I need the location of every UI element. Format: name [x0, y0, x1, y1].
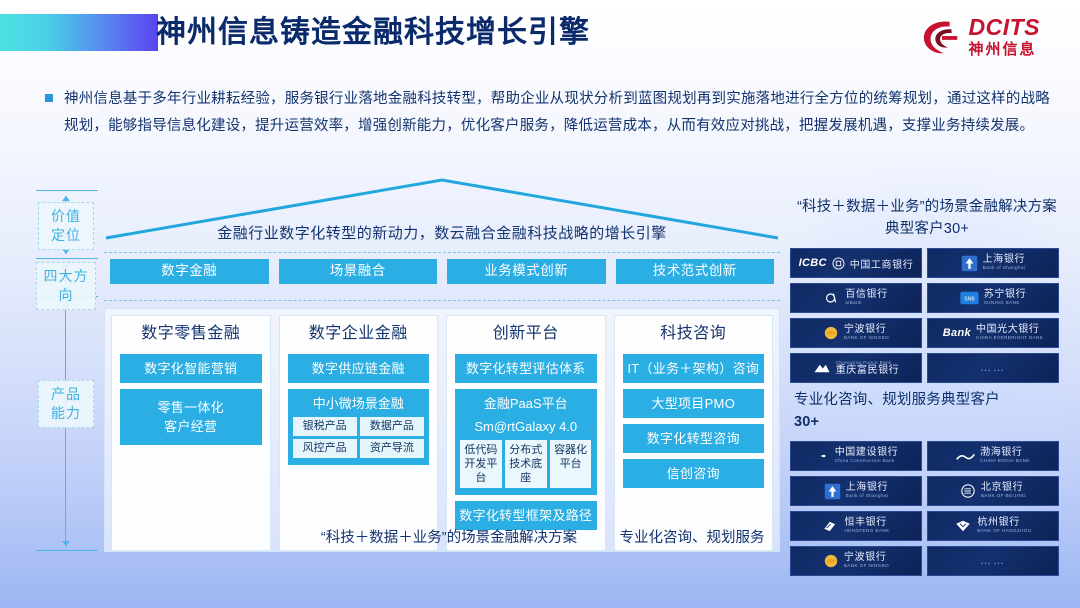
logo-bank-of-beijing[interactable]: 北京银行 BANK OF BEIJING: [927, 476, 1059, 506]
bullet-square-icon: [45, 94, 53, 102]
hengfeng-label-cn: 恒丰银行: [844, 518, 889, 528]
pillar-card-4: 科技咨询 IT（业务＋架构）咨询 大型项目PMO 数字化转型咨询 信创咨询: [614, 315, 774, 551]
bank-of-shanghai-icon: [961, 255, 978, 272]
fumin-label-cn: 重庆富民银行: [836, 366, 900, 376]
logo-everbright-bank[interactable]: Bank 中国光大银行 CHINA EVERBRIGHT BANK: [927, 318, 1059, 348]
title-accent-bar: [0, 14, 158, 51]
paas-title-line1: 金融PaaS平台: [460, 394, 592, 413]
logo-aibank[interactable]: 百信银行 aiBank: [790, 283, 922, 313]
hangzhou-label-cn: 杭州银行: [977, 518, 1031, 528]
sub-chip-bank-tax-product[interactable]: 银税产品: [293, 417, 357, 436]
four-directions-row: 数字金融 场景融合 业务模式创新 技术范式创新: [110, 259, 774, 284]
pillar-digital-enterprise-finance: 数字企业金融 数字供应链金融 中小微场景金融 银税产品 数据产品 风控产品 资产…: [279, 315, 439, 551]
paas-subchip-grid: 低代码开发平台 分布式技术底座 容器化平台: [460, 440, 592, 488]
everbright-label-en: CHINA EVERBRIGHT BANK: [976, 336, 1043, 341]
suning-label-en: SUNING BANK: [984, 301, 1026, 306]
customers-heading-2-line1: 专业化咨询、规划服务典型客户: [794, 392, 1000, 408]
direction-chip-business-model-innovation[interactable]: 业务模式创新: [447, 259, 606, 284]
ellipsis-label-1: ……: [980, 362, 1006, 374]
logo-bank-of-hangzhou[interactable]: 杭州银行 BANK OF HANGZHOU: [927, 511, 1059, 541]
rail-divider-top: [36, 190, 98, 191]
direction-chip-tech-paradigm-innovation[interactable]: 技术范式创新: [616, 259, 775, 284]
direction-chip-scenario-fusion[interactable]: 场景融合: [279, 259, 438, 284]
everbright-label-cn: 中国光大银行: [976, 325, 1043, 335]
aibank-label-en: aiBank: [845, 301, 887, 306]
block-digital-transformation-consulting[interactable]: 数字化转型咨询: [623, 424, 765, 453]
product-capability-pillars: 数字零售金融 数字化智能营销 零售一体化 客户经营 数字企业金融 数字供应链金融…: [104, 308, 780, 552]
pillar-card-3: 创新平台 数字化转型评估体系 金融PaaS平台 Sm@rtGalaxy 4.0 …: [446, 315, 606, 551]
typical-customers-panel: “科技＋数据＋业务”的场景金融解决方案典型客户30+ ICBC 中国工商银行 上…: [790, 190, 1064, 552]
hengfeng-bank-icon: [822, 519, 839, 534]
logo-bank-of-shanghai-1[interactable]: 上海银行 Bank of Shanghai: [927, 248, 1059, 278]
bos-label-en-2: Bank of Shanghai: [846, 494, 889, 499]
customers-heading-2-line2: 30+: [794, 411, 1060, 433]
block-digital-transformation-assessment[interactable]: 数字化转型评估体系: [455, 354, 597, 383]
sub-chip-asset-routing[interactable]: 资产导流: [360, 439, 424, 458]
logo-more-1[interactable]: ……: [927, 353, 1059, 383]
block-large-project-pmo[interactable]: 大型项目PMO: [623, 389, 765, 418]
sub-chip-distributed-base[interactable]: 分布式技术底座: [505, 440, 547, 488]
ccb-text: 中国建设银行 China Construction Bank: [835, 448, 899, 464]
rail-label-value-positioning: 价值 定位: [38, 202, 94, 250]
brand-text: DCITS 神州信息: [969, 16, 1041, 57]
logo-ccb[interactable]: 中国建设银行 China Construction Bank: [790, 441, 922, 471]
block-xinchuang-consulting[interactable]: 信创咨询: [623, 459, 765, 488]
everbright-wordmark: Bank: [943, 327, 971, 339]
brand-name-cn: 神州信息: [969, 42, 1041, 57]
rail-label-four-directions: 四大方向: [36, 262, 96, 310]
bank-of-beijing-text: 北京银行 BANK OF BEIJING: [981, 483, 1026, 499]
block-group-title-sme: 中小微场景金融: [293, 394, 425, 413]
customer-logo-grid-1: ICBC 中国工商银行 上海银行 Bank of Shanghai: [790, 248, 1064, 383]
aibank-icon: [824, 290, 840, 306]
pillar-card-1: 数字零售金融 数字化智能营销 零售一体化 客户经营: [111, 315, 271, 551]
sub-chip-risk-control-product[interactable]: 风控产品: [293, 439, 357, 458]
logo-chongqing-fumin-bank[interactable]: Chongqing Fumin Bank 重庆富民银行: [790, 353, 922, 383]
block-group-sme-scenario-finance: 中小微场景金融 银税产品 数据产品 风控产品 资产导流: [288, 389, 430, 465]
ningbo-label-en-1: BANK OF NINGBO: [844, 336, 889, 341]
bohai-text: 渤海银行 CHINA BOHAI BANK: [980, 448, 1030, 464]
customers-heading-1: “科技＋数据＋业务”的场景金融解决方案典型客户30+: [790, 190, 1064, 248]
logo-suning-bank[interactable]: SNB 苏宁银行 SUNING BANK: [927, 283, 1059, 313]
aibank-text: 百信银行 aiBank: [845, 290, 887, 306]
block-digital-supply-chain-finance[interactable]: 数字供应链金融: [288, 354, 430, 383]
logo-bank-of-ningbo-1[interactable]: 宁波银行 BANK OF NINGBO: [790, 318, 922, 348]
ccb-label-cn: 中国建设银行: [835, 448, 899, 458]
bank-of-ningbo-icon-2: [823, 553, 839, 569]
svg-text:SNB: SNB: [964, 297, 975, 303]
ningbo-label-en-2: BANK OF NINGBO: [844, 564, 889, 569]
ningbo-label-cn-2: 宁波银行: [844, 553, 889, 563]
icbc-wordmark: ICBC: [799, 257, 827, 269]
left-axis-rail: 价值 定位 四大方向 产品 能力: [36, 190, 98, 550]
customers-heading-2: 专业化咨询、规划服务典型客户 30+: [790, 383, 1064, 441]
aibank-label-cn: 百信银行: [845, 290, 887, 300]
block-it-business-architecture-consulting[interactable]: IT（业务＋架构）咨询: [623, 354, 765, 383]
suning-bank-icon: SNB: [960, 291, 979, 305]
block-retail-line2: 客户经营: [122, 417, 260, 436]
bank-of-shanghai-text-2: 上海银行 Bank of Shanghai: [846, 483, 889, 499]
intro-text: 神州信息基于多年行业耕耘经验，服务银行业落地金融科技转型，帮助企业从现状分析到蓝…: [64, 86, 1050, 140]
logo-bank-of-ningbo-2[interactable]: 宁波银行 BANK OF NINGBO: [790, 546, 922, 576]
ccb-icon: [814, 448, 830, 464]
rail-label-product-line2: 能力: [39, 404, 93, 423]
sub-chip-data-product[interactable]: 数据产品: [360, 417, 424, 436]
rail-label-value-line2: 定位: [39, 226, 93, 245]
rail-divider-bottom: [36, 550, 98, 551]
rail-label-product-line1: 产品: [39, 385, 93, 404]
direction-chip-digital-finance[interactable]: 数字金融: [110, 259, 269, 284]
pillar-innovation-platform: 创新平台 数字化转型评估体系 金融PaaS平台 Sm@rtGalaxy 4.0 …: [446, 315, 606, 551]
icbc-label-cn: 中国工商银行: [850, 256, 914, 271]
ningbo-label-cn-1: 宁波银行: [844, 325, 889, 335]
brand-logo: DCITS 神州信息: [921, 16, 1041, 57]
caption-consulting-planning-service: 专业化咨询、规划服务: [604, 526, 780, 547]
suning-label-cn: 苏宁银行: [984, 290, 1026, 300]
block-retail-line1: 零售一体化: [122, 398, 260, 417]
hangzhou-label-en: BANK OF HANGZHOU: [977, 529, 1031, 534]
bank-of-shanghai-icon-2: [824, 483, 841, 500]
bank-of-ningbo-text-2: 宁波银行 BANK OF NINGBO: [844, 553, 889, 569]
strategy-house-diagram: 金融行业数字化转型的新动力，数云融合金融科技战略的增长引擎 数字金融 场景融合 …: [104, 176, 780, 552]
block-retail-integrated-customer-ops[interactable]: 零售一体化 客户经营: [120, 389, 262, 445]
logo-hengfeng-bank[interactable]: 恒丰银行 HENGFENG BANK: [790, 511, 922, 541]
rail-divider-2: [36, 258, 98, 259]
bohai-bank-icon: [956, 450, 975, 463]
logo-bohai-bank[interactable]: 渤海银行 CHINA BOHAI BANK: [927, 441, 1059, 471]
hengfeng-label-en: HENGFENG BANK: [844, 529, 889, 534]
hangzhou-text: 杭州银行 BANK OF HANGZHOU: [977, 518, 1031, 534]
pillar-card-2: 数字企业金融 数字供应链金融 中小微场景金融 银税产品 数据产品 风控产品 资产…: [279, 315, 439, 551]
bank-of-ningbo-text-1: 宁波银行 BANK OF NINGBO: [844, 325, 889, 341]
beijing-label-cn: 北京银行: [981, 483, 1026, 493]
bank-of-shanghai-text-1: 上海银行 Bank of Shanghai: [983, 255, 1026, 271]
bohai-label-cn: 渤海银行: [980, 448, 1030, 458]
bos-label-cn-2: 上海银行: [846, 483, 889, 493]
hengfeng-text: 恒丰银行 HENGFENG BANK: [844, 518, 889, 534]
rail-label-product-capability: 产品 能力: [38, 380, 94, 428]
sub-chip-lowcode-platform[interactable]: 低代码开发平台: [460, 440, 502, 488]
everbright-text: 中国光大银行 CHINA EVERBRIGHT BANK: [976, 325, 1043, 341]
page-header: 神州信息铸造金融科技增长引擎 DCITS 神州信息: [0, 0, 1080, 72]
rail-label-value-line1: 价值: [39, 207, 93, 226]
pillar-tech-consulting: 科技咨询 IT（业务＋架构）咨询 大型项目PMO 数字化转型咨询 信创咨询: [614, 315, 774, 551]
dcits-swirl-icon: [921, 17, 963, 57]
pillar-digital-retail-finance: 数字零售金融 数字化智能营销 零售一体化 客户经营: [111, 315, 271, 551]
pillar-title-4: 科技咨询: [623, 322, 765, 346]
pillar-title-3: 创新平台: [455, 322, 597, 346]
customer-logo-grid-2: 中国建设银行 China Construction Bank 渤海银行 CHIN…: [790, 441, 1064, 576]
bank-of-hangzhou-icon: [954, 519, 972, 533]
roof-caption: 金融行业数字化转型的新动力，数云融合金融科技战略的增长引擎: [104, 222, 780, 243]
bos-label-en-1: Bank of Shanghai: [983, 266, 1026, 271]
paas-title-line2: Sm@rtGalaxy 4.0: [460, 417, 592, 436]
pillar-title-1: 数字零售金融: [120, 322, 262, 346]
block-group-financial-paas: 金融PaaS平台 Sm@rtGalaxy 4.0 低代码开发平台 分布式技术底座…: [455, 389, 597, 495]
pillar-title-2: 数字企业金融: [288, 322, 430, 346]
ellipsis-label-2: ……: [980, 555, 1006, 567]
logo-bank-of-shanghai-2[interactable]: 上海银行 Bank of Shanghai: [790, 476, 922, 506]
bank-of-beijing-icon: [960, 483, 976, 499]
page-title: 神州信息铸造金融科技增长引擎: [156, 10, 590, 56]
logo-icbc[interactable]: ICBC 中国工商银行: [790, 248, 922, 278]
fumin-text: Chongqing Fumin Bank 重庆富民银行: [836, 360, 900, 376]
intro-paragraph-block: 神州信息基于多年行业耕耘经验，服务银行业落地金融科技转型，帮助企业从现状分析到蓝…: [40, 86, 1050, 140]
beijing-label-en: BANK OF BEIJING: [981, 494, 1026, 499]
bos-label-cn-1: 上海银行: [983, 255, 1026, 265]
ccb-label-en: China Construction Bank: [835, 459, 899, 464]
suning-bank-text: 苏宁银行 SUNING BANK: [984, 290, 1026, 306]
dashed-divider-top: [104, 252, 780, 253]
sub-chip-container-platform[interactable]: 容器化平台: [550, 440, 592, 488]
brand-name-en: DCITS: [969, 16, 1041, 39]
chongqing-fumin-bank-icon: [813, 362, 831, 375]
block-digital-smart-marketing[interactable]: 数字化智能营销: [120, 354, 262, 383]
logo-more-2[interactable]: ……: [927, 546, 1059, 576]
bank-of-ningbo-icon: [823, 325, 839, 341]
bohai-label-en: CHINA BOHAI BANK: [980, 459, 1030, 464]
icbc-coin-icon: [832, 257, 845, 270]
sme-subchip-grid: 银税产品 数据产品 风控产品 资产导流: [293, 417, 425, 458]
dashed-divider-bottom: [104, 300, 780, 301]
